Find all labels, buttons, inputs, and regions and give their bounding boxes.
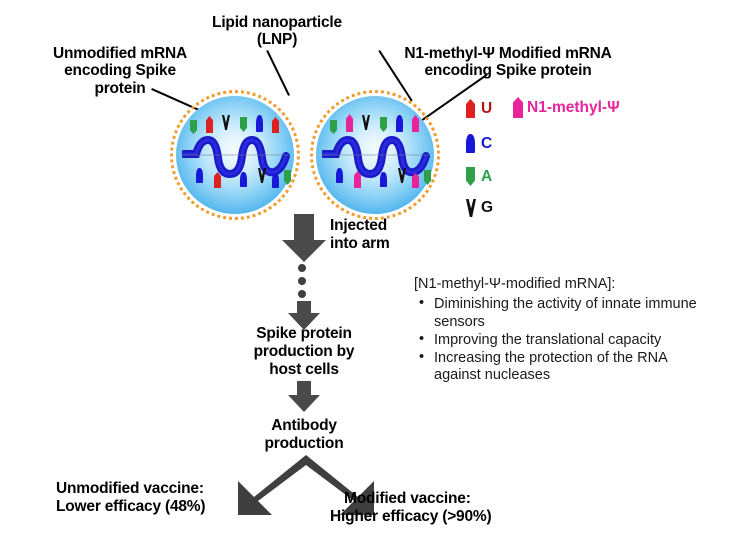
flow-label-injected-line1: Injected	[330, 217, 450, 235]
flow-label-antibody-production: Antibody production	[226, 417, 382, 453]
callout-unmodified-mrna: Unmodified mRNA encoding Spike protein	[30, 45, 210, 97]
legend-item-c: C	[466, 134, 492, 153]
nucleotide-c-icon	[380, 172, 387, 187]
flow-label-injected-line2: into arm	[330, 235, 450, 253]
list-item-text: Diminishing the activity of innate immun…	[434, 296, 697, 329]
flow-arrow-to-antibody	[288, 381, 320, 413]
outcome-modified-line2: Higher efficacy (>90%)	[330, 508, 610, 526]
outcome-modified-line1: Modified vaccine:	[330, 490, 610, 508]
callout-lnp-line1: Lipid nanoparticle	[172, 14, 382, 31]
legend-item-psi: N1-methyl-Ψ	[513, 97, 620, 118]
legend-label-g: G	[481, 200, 493, 216]
nucleotide-a-icon	[466, 167, 475, 186]
callout-modified-mrna: N1-methyl-Ψ Modified mRNA encoding Spike…	[358, 45, 658, 80]
list-item: • Improving the translational capacity	[414, 332, 714, 349]
panel-bullet-list: • Diminishing the activity of innate imm…	[414, 296, 714, 384]
nucleotide-a-icon	[190, 120, 197, 134]
nucleotide-c-icon	[336, 168, 343, 183]
callout-lipid-nanoparticle: Lipid nanoparticle (LNP)	[172, 14, 382, 49]
legend-label-a: A	[481, 169, 492, 185]
bullet-icon: •	[419, 349, 424, 366]
callout-unmodified-line1: Unmodified mRNA	[30, 45, 210, 62]
flow-arrow-injected	[282, 214, 326, 262]
nucleotide-c-icon	[240, 172, 247, 187]
flow-label-antibody-line2: production	[226, 435, 382, 453]
callout-modified-line1: N1-methyl-Ψ Modified mRNA	[358, 45, 658, 62]
nucleotide-g-icon	[466, 199, 476, 217]
flow-label-spike-line1: Spike protein	[216, 325, 392, 343]
legend-item-a: A	[466, 167, 492, 186]
flow-label-antibody-line1: Antibody	[226, 417, 382, 435]
list-item-text: Improving the translational capacity	[434, 332, 661, 348]
outcome-label-modified: Modified vaccine: Higher efficacy (>90%)	[330, 490, 610, 527]
nucleotide-g-icon	[398, 168, 406, 183]
nucleotide-c-icon	[466, 134, 475, 153]
nucleotide-c-icon	[272, 173, 279, 188]
nucleotide-g-icon	[258, 168, 266, 183]
callout-modified-line2: encoding Spike protein	[358, 62, 658, 79]
legend-label-c: C	[481, 136, 492, 152]
nucleotide-u-icon	[466, 99, 475, 118]
flow-label-injected: Injected into arm	[330, 217, 450, 253]
flow-label-spike-line2: production by	[216, 343, 392, 361]
flow-label-spike-line3: host cells	[216, 361, 392, 379]
outcome-unmodified-line2: Lower efficacy (48%)	[56, 498, 296, 516]
bullet-icon: •	[419, 295, 424, 312]
outcome-unmodified-line1: Unmodified vaccine:	[56, 480, 296, 498]
legend-label-u: U	[481, 101, 492, 117]
flow-label-spike-production: Spike protein production by host cells	[216, 325, 392, 378]
outcome-label-unmodified: Unmodified vaccine: Lower efficacy (48%)	[56, 480, 296, 517]
nucleotide-a-icon	[424, 170, 431, 185]
legend-item-u: U	[466, 99, 492, 118]
nucleotide-psi-icon	[412, 173, 419, 188]
bullet-icon: •	[419, 331, 424, 348]
nucleotide-psi-icon	[412, 115, 419, 132]
nucleotide-u-icon	[206, 116, 213, 133]
nucleotide-c-icon	[196, 168, 203, 183]
leader-line-lnp-left	[267, 50, 290, 96]
nucleotide-g-icon	[222, 115, 230, 130]
nucleotide-u-icon	[272, 117, 279, 133]
nucleotide-u-icon	[214, 172, 221, 188]
nucleotide-a-icon	[284, 170, 291, 185]
nucleotide-a-icon	[240, 117, 247, 132]
nucleotide-c-icon	[256, 115, 263, 132]
mechanism-panel: [N1-methyl-Ψ-modified mRNA]: • Diminishi…	[414, 276, 714, 385]
nucleotide-a-icon	[380, 117, 387, 132]
nucleotide-psi-icon	[513, 97, 523, 118]
legend-item-g: G	[466, 199, 493, 217]
callout-unmodified-line3: protein	[30, 80, 210, 97]
nucleotide-g-icon	[362, 115, 370, 130]
callout-unmodified-line2: encoding Spike	[30, 62, 210, 79]
nucleotide-psi-icon	[346, 114, 353, 132]
list-item: • Increasing the protection of the RNA a…	[414, 350, 714, 384]
nucleotide-a-icon	[330, 120, 337, 134]
panel-title: [N1-methyl-Ψ-modified mRNA]:	[414, 276, 714, 293]
nucleotide-c-icon	[396, 115, 403, 132]
list-item-text: Increasing the protection of the RNA aga…	[434, 350, 667, 383]
list-item: • Diminishing the activity of innate imm…	[414, 296, 714, 330]
nucleotide-psi-icon	[354, 171, 361, 188]
legend-label-psi: N1-methyl-Ψ	[527, 100, 620, 116]
